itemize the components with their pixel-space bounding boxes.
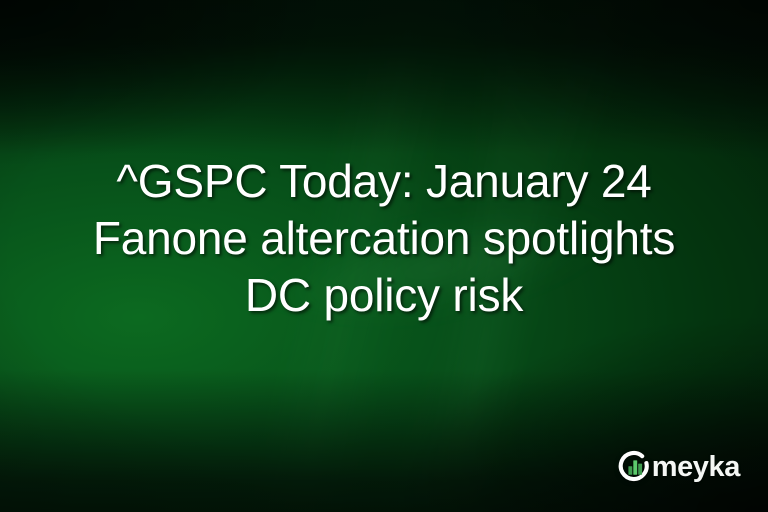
meyka-bar-chart-ring-icon xyxy=(617,449,653,485)
headline-text: ^GSPC Today: January 24 Fanone altercati… xyxy=(0,153,768,324)
meyka-logo[interactable]: meyka xyxy=(617,449,740,485)
article-share-card: ^GSPC Today: January 24 Fanone altercati… xyxy=(0,0,768,512)
meyka-wordmark: meyka xyxy=(652,453,740,482)
